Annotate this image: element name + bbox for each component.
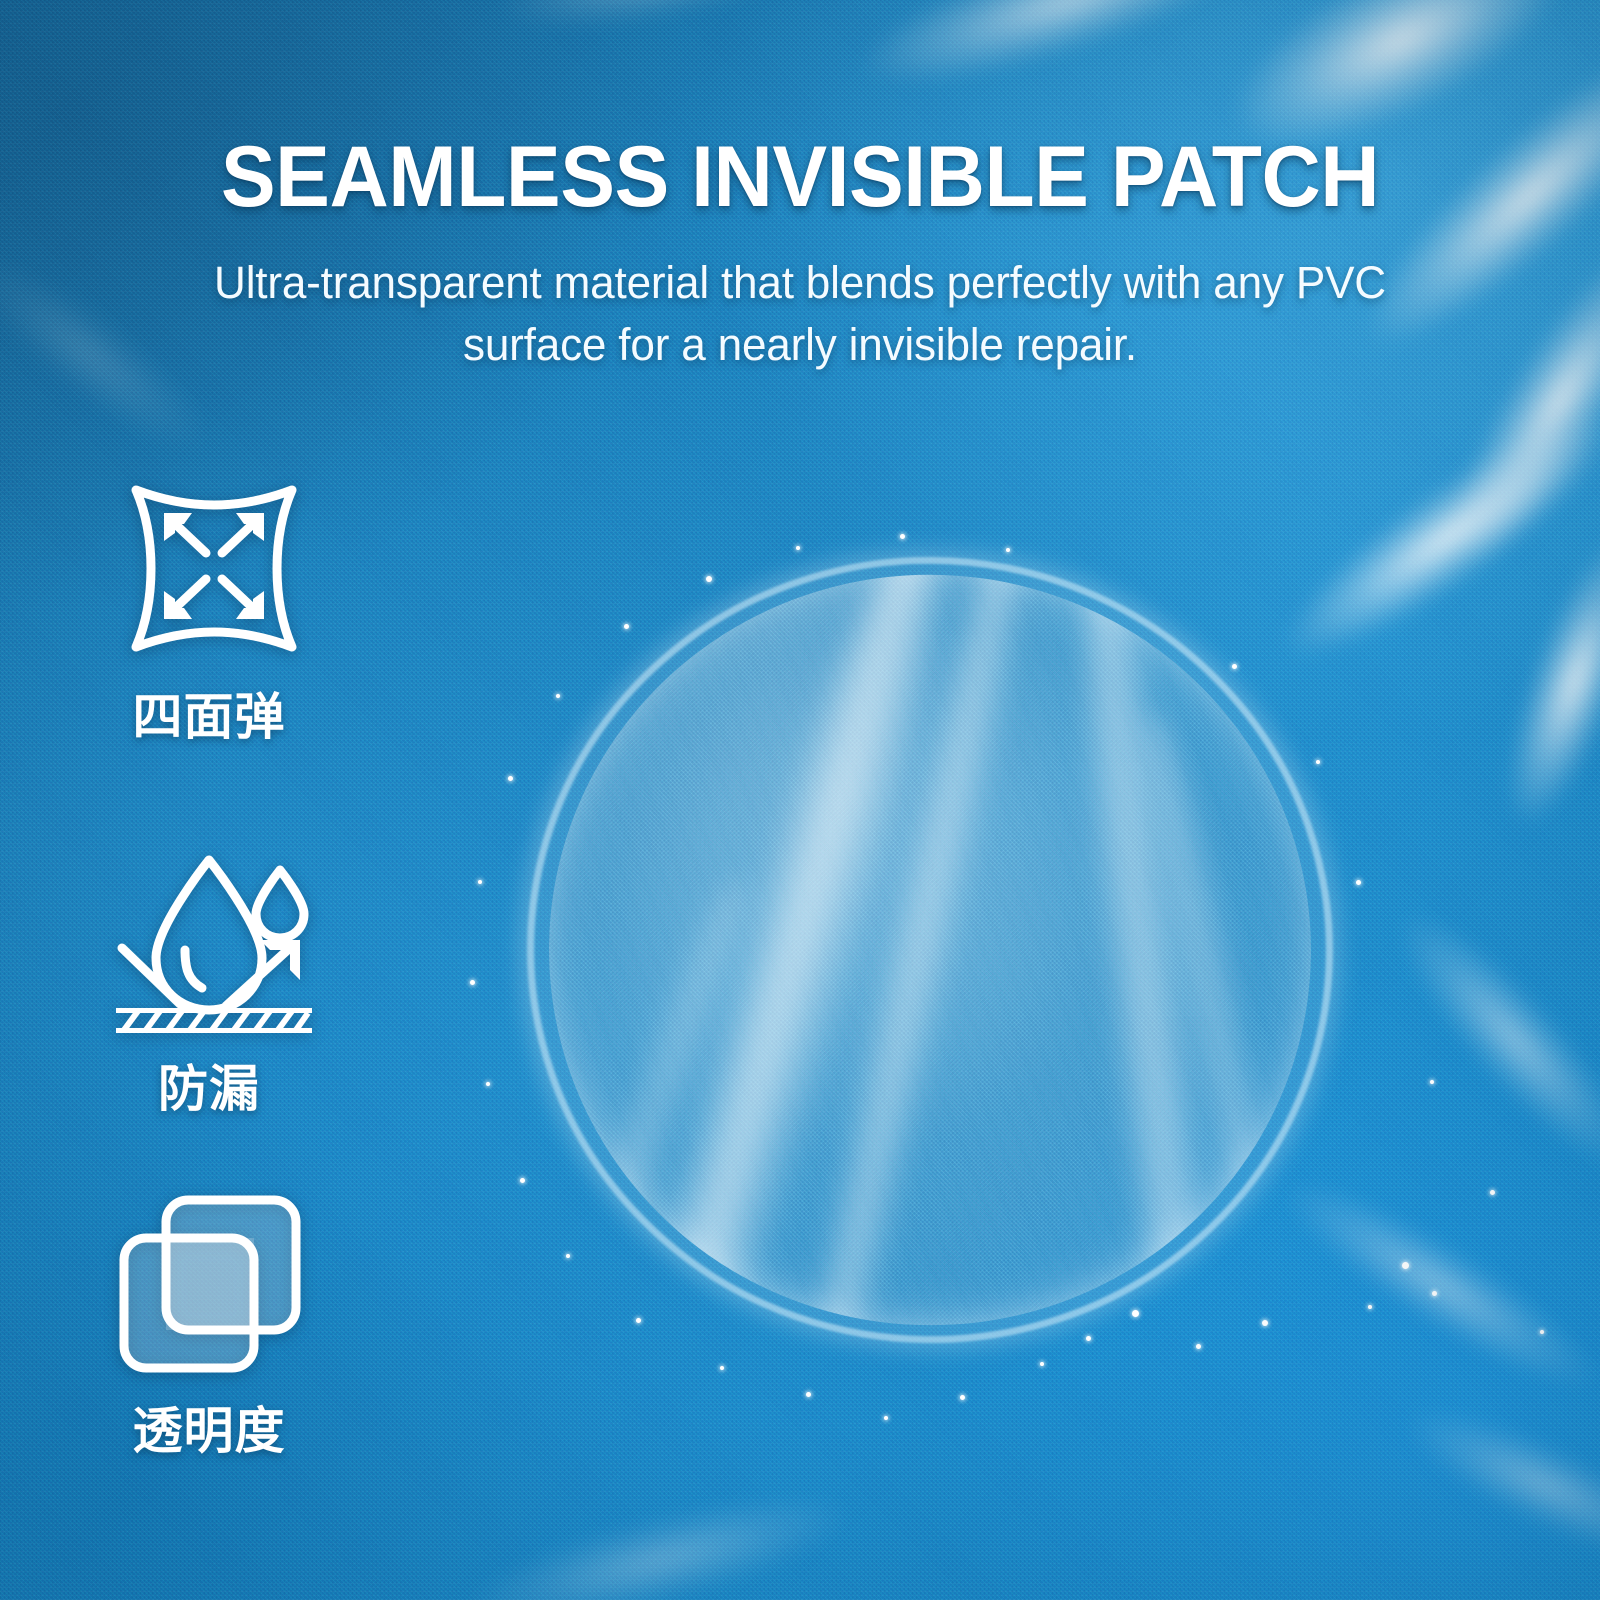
feature-label-transparency: 透明度 <box>104 1391 314 1463</box>
product-infographic-canvas: SEAMLESS INVISIBLE PATCH Ultra-transpare… <box>0 0 1600 1600</box>
feature-item-transparency: 透明度 <box>104 1190 334 1463</box>
water-repellent-droplet-icon <box>114 848 314 1033</box>
transparency-layers-icon <box>114 1190 314 1375</box>
feature-label-stretch: 四面弹 <box>104 677 314 749</box>
page-subtitle: Ultra-transparent material that blends p… <box>188 252 1413 376</box>
four-way-stretch-icon <box>114 476 314 661</box>
page-title: SEAMLESS INVISIBLE PATCH <box>36 128 1564 227</box>
feature-label-leakproof: 防漏 <box>104 1049 314 1121</box>
feature-item-stretch: 四面弹 <box>104 476 334 749</box>
feature-item-leakproof: 防漏 <box>104 848 334 1121</box>
